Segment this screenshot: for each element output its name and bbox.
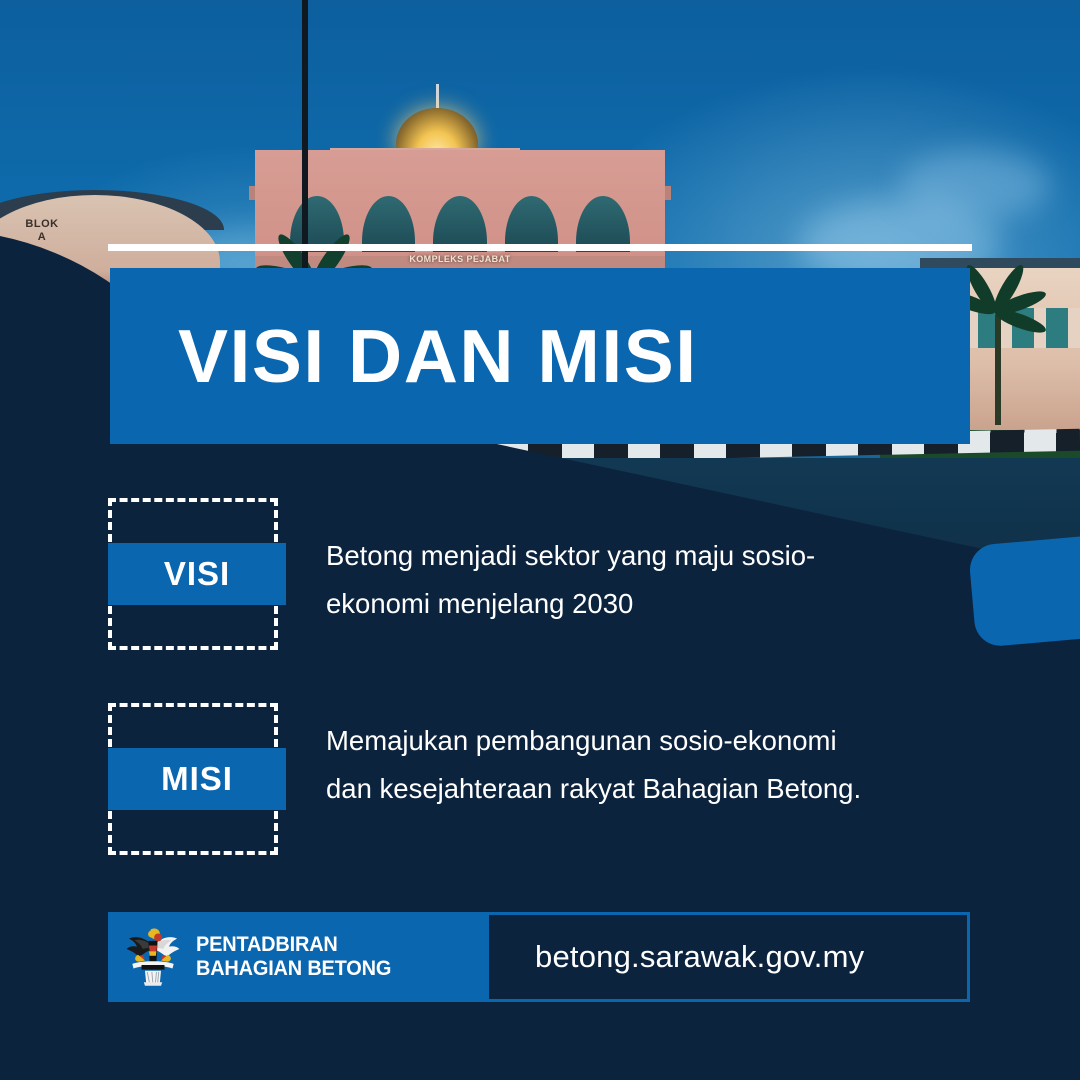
left-building-label: BLOKA bbox=[22, 218, 62, 244]
footer-bar: PENTADBIRAN BAHAGIAN BETONG betong.saraw… bbox=[108, 912, 970, 1002]
visi-text: Betong menjadi sektor yang maju sosio-ek… bbox=[326, 498, 886, 628]
visi-tag-label: VISI bbox=[164, 555, 230, 593]
header-rule bbox=[108, 244, 972, 251]
visi-tag-box: VISI bbox=[108, 498, 278, 650]
section-misi: MISI Memajukan pembangunan sosio-ekonomi… bbox=[108, 703, 886, 855]
website-url[interactable]: betong.sarawak.gov.my bbox=[535, 939, 864, 975]
page-title: VISI DAN MISI bbox=[178, 319, 698, 394]
misi-tag-box: MISI bbox=[108, 703, 278, 855]
footer-brand-line1: PENTADBIRAN bbox=[196, 933, 338, 956]
misi-text: Memajukan pembangunan sosio-ekonomi dan … bbox=[326, 703, 886, 813]
footer-brand-text: PENTADBIRAN BAHAGIAN BETONG bbox=[196, 933, 391, 981]
blue-accent-shape bbox=[968, 534, 1080, 648]
title-block: VISI DAN MISI bbox=[110, 268, 970, 444]
poster: BLOKA KOMPLEKS PEJABAT bbox=[0, 0, 1080, 1080]
footer-url-box[interactable]: betong.sarawak.gov.my bbox=[486, 912, 970, 1002]
section-visi: VISI Betong menjadi sektor yang maju sos… bbox=[108, 498, 886, 650]
sarawak-coat-of-arms-icon bbox=[124, 926, 182, 988]
footer-brand: PENTADBIRAN BAHAGIAN BETONG bbox=[108, 912, 486, 1002]
palm-tree-right bbox=[955, 285, 1055, 435]
visi-tag-bar: VISI bbox=[108, 543, 286, 605]
misi-tag-label: MISI bbox=[161, 760, 233, 798]
footer-brand-line2: BAHAGIAN BETONG bbox=[196, 957, 391, 980]
cloud bbox=[900, 150, 1050, 220]
misi-tag-bar: MISI bbox=[108, 748, 286, 810]
